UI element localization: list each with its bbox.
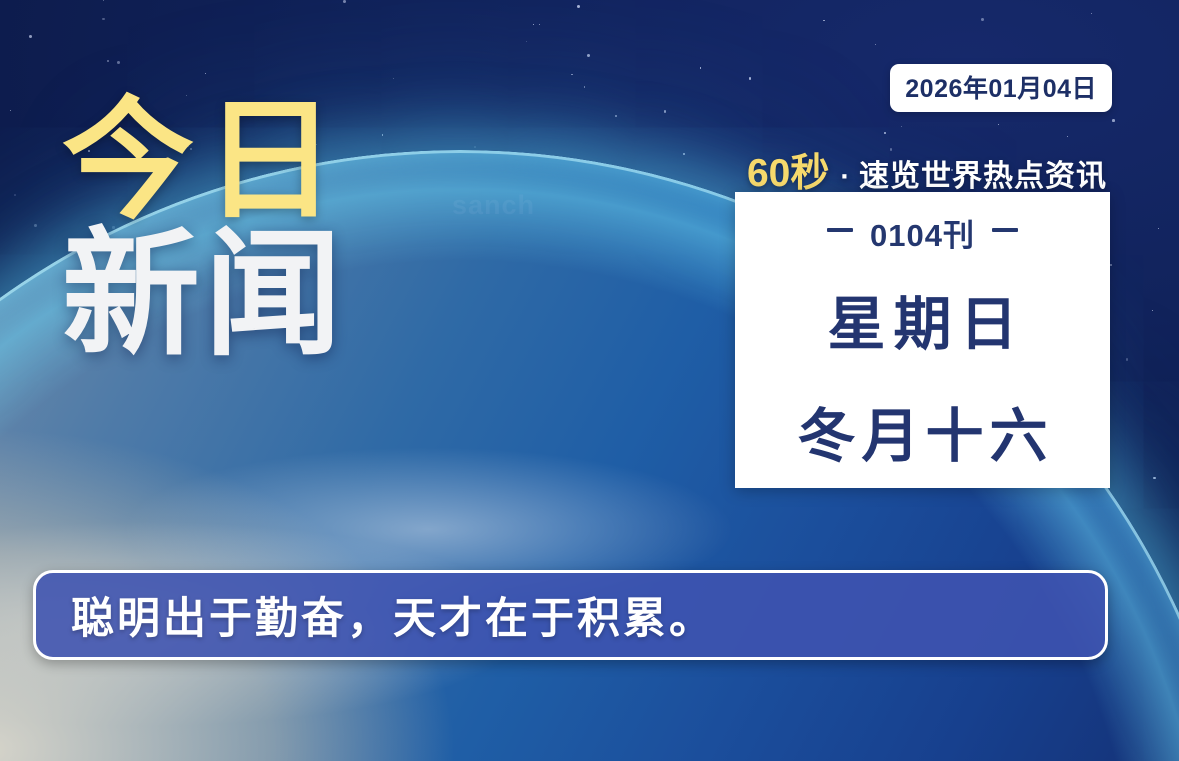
headline-line-2: 新闻 <box>62 225 502 366</box>
lunar-date-label: 冬月十六 <box>791 389 1053 473</box>
quote-text: 聪明出于勤奋，天才在于积累。 <box>36 584 715 646</box>
tagline-text: 速览世界热点资讯 <box>859 151 1107 195</box>
weekday-label: 星期日 <box>819 277 1025 361</box>
poster-root: sanch 今日 新闻 2026年01月04日 60秒 · 速览世界热点资讯 0… <box>0 0 1179 761</box>
headline-line-1: 今日 <box>62 92 502 231</box>
dash-left-icon <box>827 228 853 232</box>
tagline-separator: · <box>831 161 857 194</box>
tagline-seconds: 60秒 <box>747 142 829 198</box>
date-badge: 2026年01月04日 <box>890 64 1112 112</box>
quote-bar: 聪明出于勤奋，天才在于积累。 <box>33 570 1108 660</box>
tagline: 60秒 · 速览世界热点资讯 <box>747 142 1107 198</box>
headline-block: 今日 新闻 <box>62 92 502 365</box>
issue-number: 0104刊 <box>870 210 975 255</box>
info-card: 0104刊 星期日 冬月十六 <box>735 192 1110 488</box>
issue-row: 0104刊 <box>827 210 1018 255</box>
dash-right-icon <box>992 228 1018 232</box>
